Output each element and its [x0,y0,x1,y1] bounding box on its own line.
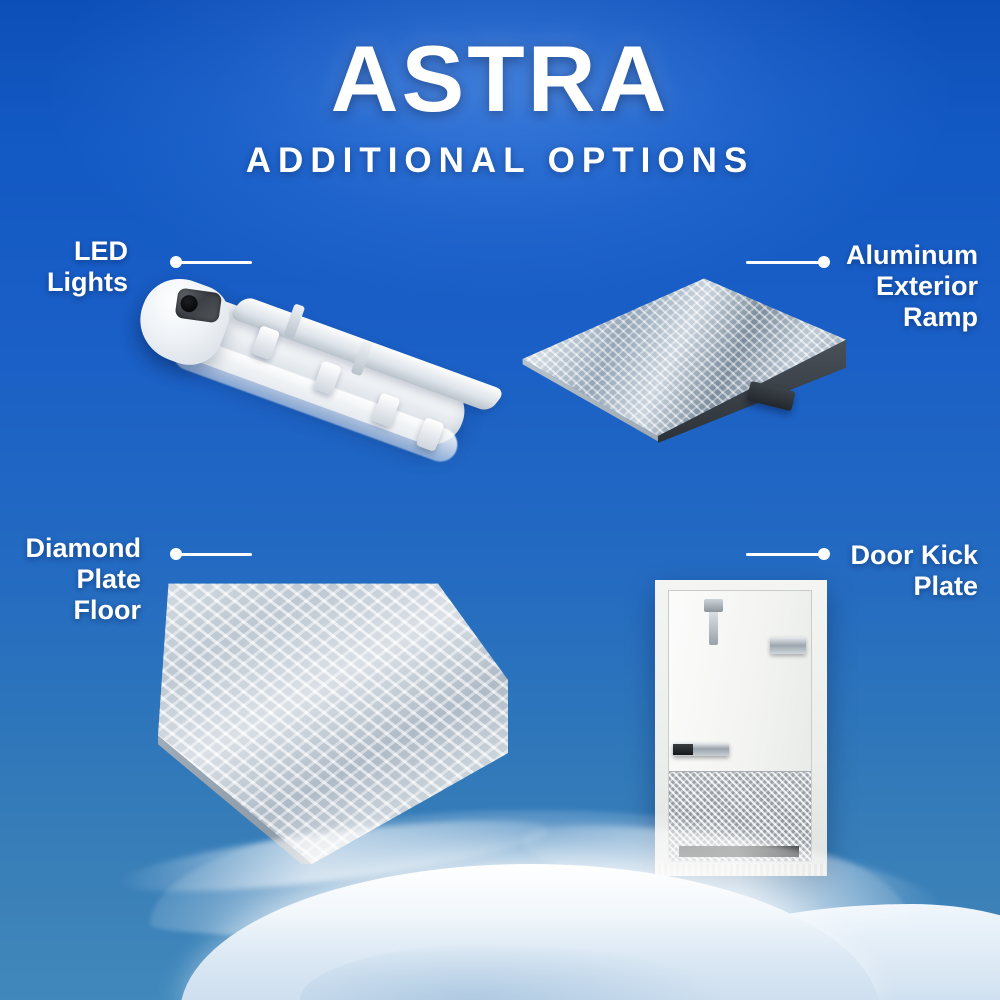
brand-title: ASTRA [0,0,1000,123]
leader-bar-icon [178,553,252,556]
callout-label-led-lights: LED Lights [0,236,128,298]
floor-tile-strip [655,864,827,876]
door-top-latch [709,609,718,645]
page-subtitle: ADDITIONAL OPTIONS [0,141,1000,181]
poster-header: ASTRA ADDITIONAL OPTIONS [0,0,1000,181]
ramp-tread-surface [516,268,846,443]
door-frame [655,580,827,876]
callout-label-diamond-plate-floor: Diamond Plate Floor [0,533,141,626]
leader-bar-icon [746,261,820,264]
door-threshold [679,846,799,857]
door-hinge-top [770,637,806,654]
product-image-aluminum-ramp [516,268,846,443]
mountain-shadow [300,942,730,1000]
door-leaf [668,590,812,862]
product-image-diamond-plate-floor [158,572,508,864]
leader-line-door-kick-plate [746,547,830,561]
led-cable-gland-icon [175,288,223,324]
diamond-plate-sheet [158,572,508,864]
leader-line-aluminum-exterior-ramp [746,255,830,269]
leader-dot-icon [818,548,830,560]
poster-canvas: ASTRA ADDITIONAL OPTIONS LED Lights Alum… [0,0,1000,1000]
leader-dot-icon [818,256,830,268]
led-fixture-group [114,248,531,498]
mountain-peak-secondary [600,904,1000,1000]
leader-line-diamond-plate-floor [170,547,252,561]
product-image-cold-room-door [655,580,827,876]
mountain-peak-main [180,864,880,1000]
leader-bar-icon [746,553,820,556]
ramp-group [516,268,846,443]
door-handle [673,743,729,756]
product-image-led-light [130,262,530,442]
